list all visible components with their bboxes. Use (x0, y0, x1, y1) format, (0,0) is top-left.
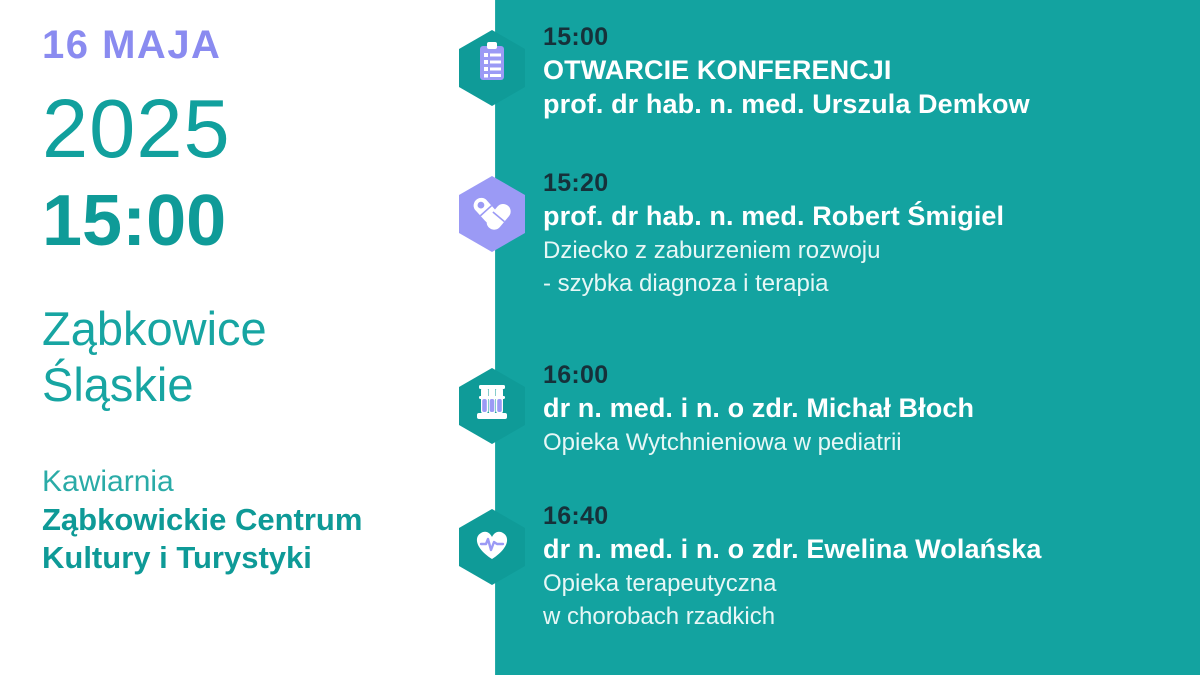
agenda-item-icon-wrap (455, 366, 531, 452)
agenda-list: 15:00 OTWARCIE KONFERENCJI prof. dr hab.… (455, 0, 1200, 675)
agenda-item-subtitle-line-2: - szybka diagnoza i terapia (543, 268, 1004, 300)
agenda-item-speaker: dr n. med. i n. o zdr. Ewelina Wolańska (543, 532, 1042, 566)
event-city: Ząbkowice Śląskie (42, 301, 455, 412)
agenda-item-icon-wrap (455, 174, 531, 260)
agenda-item-time: 15:20 (543, 168, 1004, 199)
pills-capsules-icon (459, 176, 525, 252)
event-city-line-1: Ząbkowice (42, 301, 455, 356)
venue-name-line-1: Ząbkowickie Centrum (42, 501, 455, 539)
agenda-item-time: 15:00 (543, 22, 1030, 53)
agenda-item-subtitle-line-1: Opieka terapeutyczna (543, 568, 1042, 600)
heart-pulse-icon (459, 509, 525, 585)
agenda-item-time: 16:00 (543, 360, 974, 391)
agenda-item-icon-wrap (455, 28, 531, 114)
agenda-item-time: 16:40 (543, 501, 1042, 532)
event-year: 2025 (42, 88, 455, 169)
agenda-item-icon-wrap (455, 507, 531, 593)
agenda-item: 16:00 dr n. med. i n. o zdr. Michał Błoc… (455, 360, 1200, 458)
agenda-item-text: 15:00 OTWARCIE KONFERENCJI prof. dr hab.… (531, 22, 1030, 121)
agenda-item-speaker: dr n. med. i n. o zdr. Michał Błoch (543, 391, 974, 425)
event-city-line-2: Śląskie (42, 357, 455, 412)
test-tube-rack-icon (459, 368, 525, 444)
agenda-item-subtitle-line-1: Opieka Wytchnieniowa w pediatrii (543, 427, 974, 459)
conference-poster: 16 MAJA 2025 15:00 Ząbkowice Śląskie Kaw… (0, 0, 1200, 675)
event-date: 16 MAJA (42, 24, 455, 66)
venue-name-line-2: Kultury i Turystyki (42, 539, 455, 577)
clipboard-checklist-icon (459, 30, 525, 106)
event-info-panel: 16 MAJA 2025 15:00 Ząbkowice Śląskie Kaw… (0, 0, 495, 675)
agenda-item-speaker: prof. dr hab. n. med. Robert Śmigiel (543, 199, 1004, 233)
agenda-item-subtitle-line-1: Dziecko z zaburzeniem rozwoju (543, 235, 1004, 267)
agenda-item-title: OTWARCIE KONFERENCJI (543, 53, 1030, 87)
event-venue: Kawiarnia Ząbkowickie Centrum Kultury i … (42, 464, 455, 576)
event-start-time: 15:00 (42, 185, 455, 257)
agenda-item-text: 16:00 dr n. med. i n. o zdr. Michał Błoc… (531, 360, 974, 458)
agenda-item-speaker: prof. dr hab. n. med. Urszula Demkow (543, 87, 1030, 121)
agenda-item-subtitle-line-2: w chorobach rzadkich (543, 601, 1042, 633)
agenda-item-text: 16:40 dr n. med. i n. o zdr. Ewelina Wol… (531, 501, 1042, 633)
agenda-item: 15:20 prof. dr hab. n. med. Robert Śmigi… (455, 168, 1200, 300)
venue-type: Kawiarnia (42, 464, 455, 501)
agenda-item: 15:00 OTWARCIE KONFERENCJI prof. dr hab.… (455, 22, 1200, 121)
agenda-item-text: 15:20 prof. dr hab. n. med. Robert Śmigi… (531, 168, 1004, 300)
agenda-item: 16:40 dr n. med. i n. o zdr. Ewelina Wol… (455, 501, 1200, 633)
